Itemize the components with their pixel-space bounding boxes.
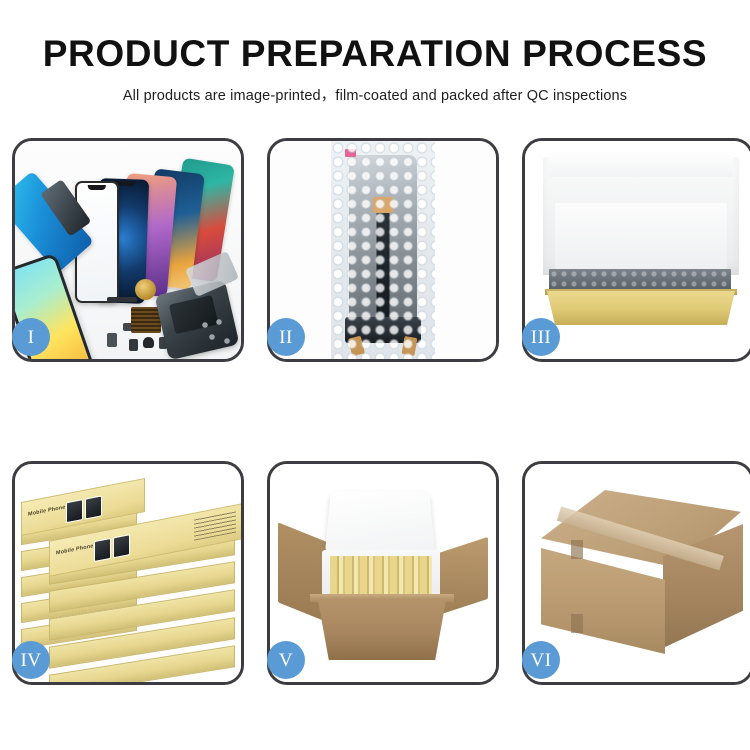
stacked-spare-parts-boxes-photo: Mobile Phone Spare Parts Mobile Phone Sp…: [15, 464, 241, 682]
flex-cable-icon: [377, 211, 390, 329]
component-icon: [107, 297, 137, 302]
sealed-brown-carton-photo: [525, 464, 750, 682]
step-panel-2[interactable]: II: [267, 138, 499, 362]
open-carton-with-foam-liner-photo: [270, 464, 496, 682]
component-icon: [143, 337, 154, 348]
step-badge-4: IV: [12, 641, 50, 679]
step-badge-2: II: [267, 318, 305, 356]
carton-seam: [571, 540, 583, 559]
phone-graphic-icon: [85, 495, 102, 519]
box-stack: Mobile Phone Spare Parts Mobile Phone Sp…: [21, 486, 241, 672]
foam-lid-icon: [325, 491, 435, 554]
step-panel-6[interactable]: VI: [522, 461, 750, 685]
carton-front-face: [541, 548, 665, 654]
carton-seam: [571, 614, 583, 633]
component-icon: [107, 333, 117, 347]
chip-grid-icon: [131, 307, 161, 333]
bubble-wrapped-screen-photo: [270, 141, 496, 359]
phone-graphic-icon: [113, 534, 130, 558]
notch-icon: [88, 185, 106, 190]
box-spec-lines: [194, 511, 236, 541]
screws-icon: [199, 319, 233, 349]
vibration-motor-icon: [135, 279, 156, 300]
page-subtitle: All products are image-printed，film-coat…: [0, 73, 750, 105]
page-title: PRODUCT PREPARATION PROCESS: [0, 0, 750, 73]
open-yellow-box-with-foam-photo: [525, 141, 750, 359]
step-badge-3: III: [522, 318, 560, 356]
step-panel-1[interactable]: I: [12, 138, 244, 362]
bubble-wrap-bag: [331, 141, 435, 359]
phone-graphic-icon: [66, 499, 83, 523]
step-badge-1: I: [12, 318, 50, 356]
component-icon: [129, 339, 138, 351]
qc-label-icon: [345, 149, 356, 157]
phone-graphic-icon: [94, 538, 111, 562]
carton-body-icon: [312, 598, 452, 660]
step-panel-3[interactable]: III: [522, 138, 750, 362]
product-preparation-process-infographic: PRODUCT PREPARATION PROCESS All products…: [0, 0, 750, 750]
header: PRODUCT PREPARATION PROCESS All products…: [0, 0, 750, 105]
yellow-boxes-bundle-icon: [330, 556, 432, 596]
step-panel-4[interactable]: Mobile Phone Spare Parts Mobile Phone Sp…: [12, 461, 244, 685]
foam-sheet-icon: [555, 203, 727, 269]
step-badge-5: V: [267, 641, 305, 679]
process-steps-grid: I II III: [12, 138, 738, 685]
connector-board-icon: [345, 317, 421, 343]
phone-screens-and-parts-photo: [15, 141, 241, 359]
step-badge-6: VI: [522, 641, 560, 679]
step-panel-5[interactable]: V: [267, 461, 499, 685]
yellow-box-icon: [541, 291, 741, 325]
